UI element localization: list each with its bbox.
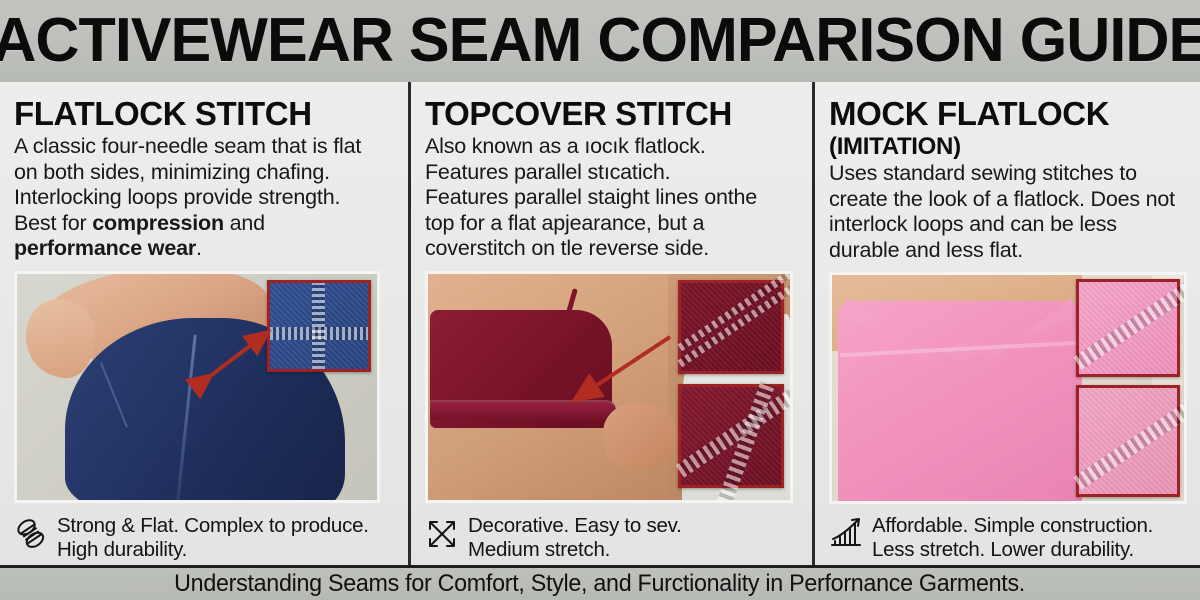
growth-bar-chart-icon: [829, 514, 863, 554]
inset-mock-flatlock-stitch: [1076, 279, 1180, 377]
panel-flatlock-stitch: FLATLOCK STITCH A classic four-needle se…: [0, 82, 408, 568]
description-line: Features parallel stıcatich.: [425, 160, 800, 186]
text-middle: and: [224, 211, 265, 235]
infographic-root: ACTIVEWEAR SEAM COMPARISON GUIDE FLATLOC…: [0, 0, 1200, 600]
panel-title: FLATLOCK STITCH: [14, 96, 396, 132]
footnote-line: Affordable. Simple construction.: [872, 514, 1153, 538]
description-line: on both sides, minimizing chafing.: [14, 160, 396, 186]
highlight-compression: compression: [92, 211, 224, 235]
header-bar: ACTIVEWEAR SEAM COMPARISON GUIDE: [0, 0, 1200, 82]
description-line: create the look of a flatlock. Does not: [829, 187, 1188, 213]
footnote-topcover: Decorative. Easy to sev. Medium stretch.: [425, 514, 802, 562]
panel-title: MOCK FLATLOCK: [829, 96, 1188, 132]
footnote-line: Decorative. Easy to sev.: [468, 514, 682, 538]
footnote-text: Affordable. Simple construction. Less st…: [872, 514, 1153, 562]
panel-columns: FLATLOCK STITCH A classic four-needle se…: [0, 82, 1200, 568]
stitch-coil-icon: [14, 514, 48, 554]
panel-subtitle: (IMITATION): [829, 134, 1188, 159]
photo-burgundy-bra: [425, 271, 793, 503]
panel-topcover-stitch: TOPCOVER STITCH Also known as a ıocık fl…: [408, 82, 812, 568]
footnote-text: Strong & Flat. Complex to produce. High …: [57, 514, 369, 562]
highlight-performance-wear: performance wear: [14, 236, 196, 260]
description-line: durable and less flat.: [829, 238, 1188, 264]
panel-title: TOPCOVER STITCH: [425, 96, 800, 132]
four-way-stretch-arrows-icon: [425, 514, 459, 554]
panel-description: Uses standard sewing stitches to create …: [829, 161, 1188, 263]
panel-description: Also known as a ıocık flatlock. Features…: [425, 134, 800, 262]
description-line: A classic four-needle seam that is flat: [14, 134, 396, 160]
footnote-line: High durability.: [57, 538, 369, 562]
description-line: Uses standard sewing stitches to: [829, 161, 1188, 187]
page-title: ACTIVEWEAR SEAM COMPARISON GUIDE: [0, 10, 1200, 72]
footnote-text: Decorative. Easy to sev. Medium stretch.: [468, 514, 682, 562]
footnote-mock-flatlock: Affordable. Simple construction. Less st…: [829, 514, 1190, 562]
text-prefix: Best for: [14, 211, 92, 235]
description-line: Interlocking loops provide strength.: [14, 185, 396, 211]
description-line-highlight: performance wear.: [14, 236, 396, 262]
panel-mock-flatlock: MOCK FLATLOCK (IMITATION) Uses standard …: [812, 82, 1200, 568]
inset-coverstitch-reverse: [678, 384, 784, 488]
footnote-flatlock: Strong & Flat. Complex to produce. High …: [14, 514, 398, 562]
footer-caption: Understanding Seams for Comfort, Style, …: [175, 571, 1026, 597]
stitch-row-vertical: [312, 283, 325, 369]
pink-legging-garment: [838, 301, 1082, 504]
description-line: interlock loops and can be less: [829, 212, 1188, 238]
text-suffix: .: [196, 236, 202, 260]
description-line: Features parallel staight lines onthe: [425, 185, 800, 211]
inset-topcover-stitch-face: [678, 280, 784, 374]
description-line: top for a flat apjearance, but a: [425, 211, 800, 237]
panel-description: A classic four-needle seam that is flat …: [14, 134, 396, 262]
description-line: coverstitch on tle reverse side.: [425, 236, 800, 262]
inset-flatlock-stitch-closeup: [267, 280, 371, 372]
bra-hem-seam: [430, 400, 616, 420]
photo-navy-leggings: [14, 271, 380, 503]
footnote-line: Less stretch. Lower durability.: [872, 538, 1153, 562]
inset-mock-flatlock-seam-reverse: [1076, 385, 1180, 497]
footnote-line: Medium stretch.: [468, 538, 682, 562]
footer-bar: Understanding Seams for Comfort, Style, …: [0, 565, 1200, 600]
description-line-highlight: Best for compression and: [14, 211, 396, 237]
photo-pink-leggings: [829, 272, 1187, 504]
description-line: Also known as a ıocık flatlock.: [425, 134, 800, 160]
footnote-line: Strong & Flat. Complex to produce.: [57, 514, 369, 538]
